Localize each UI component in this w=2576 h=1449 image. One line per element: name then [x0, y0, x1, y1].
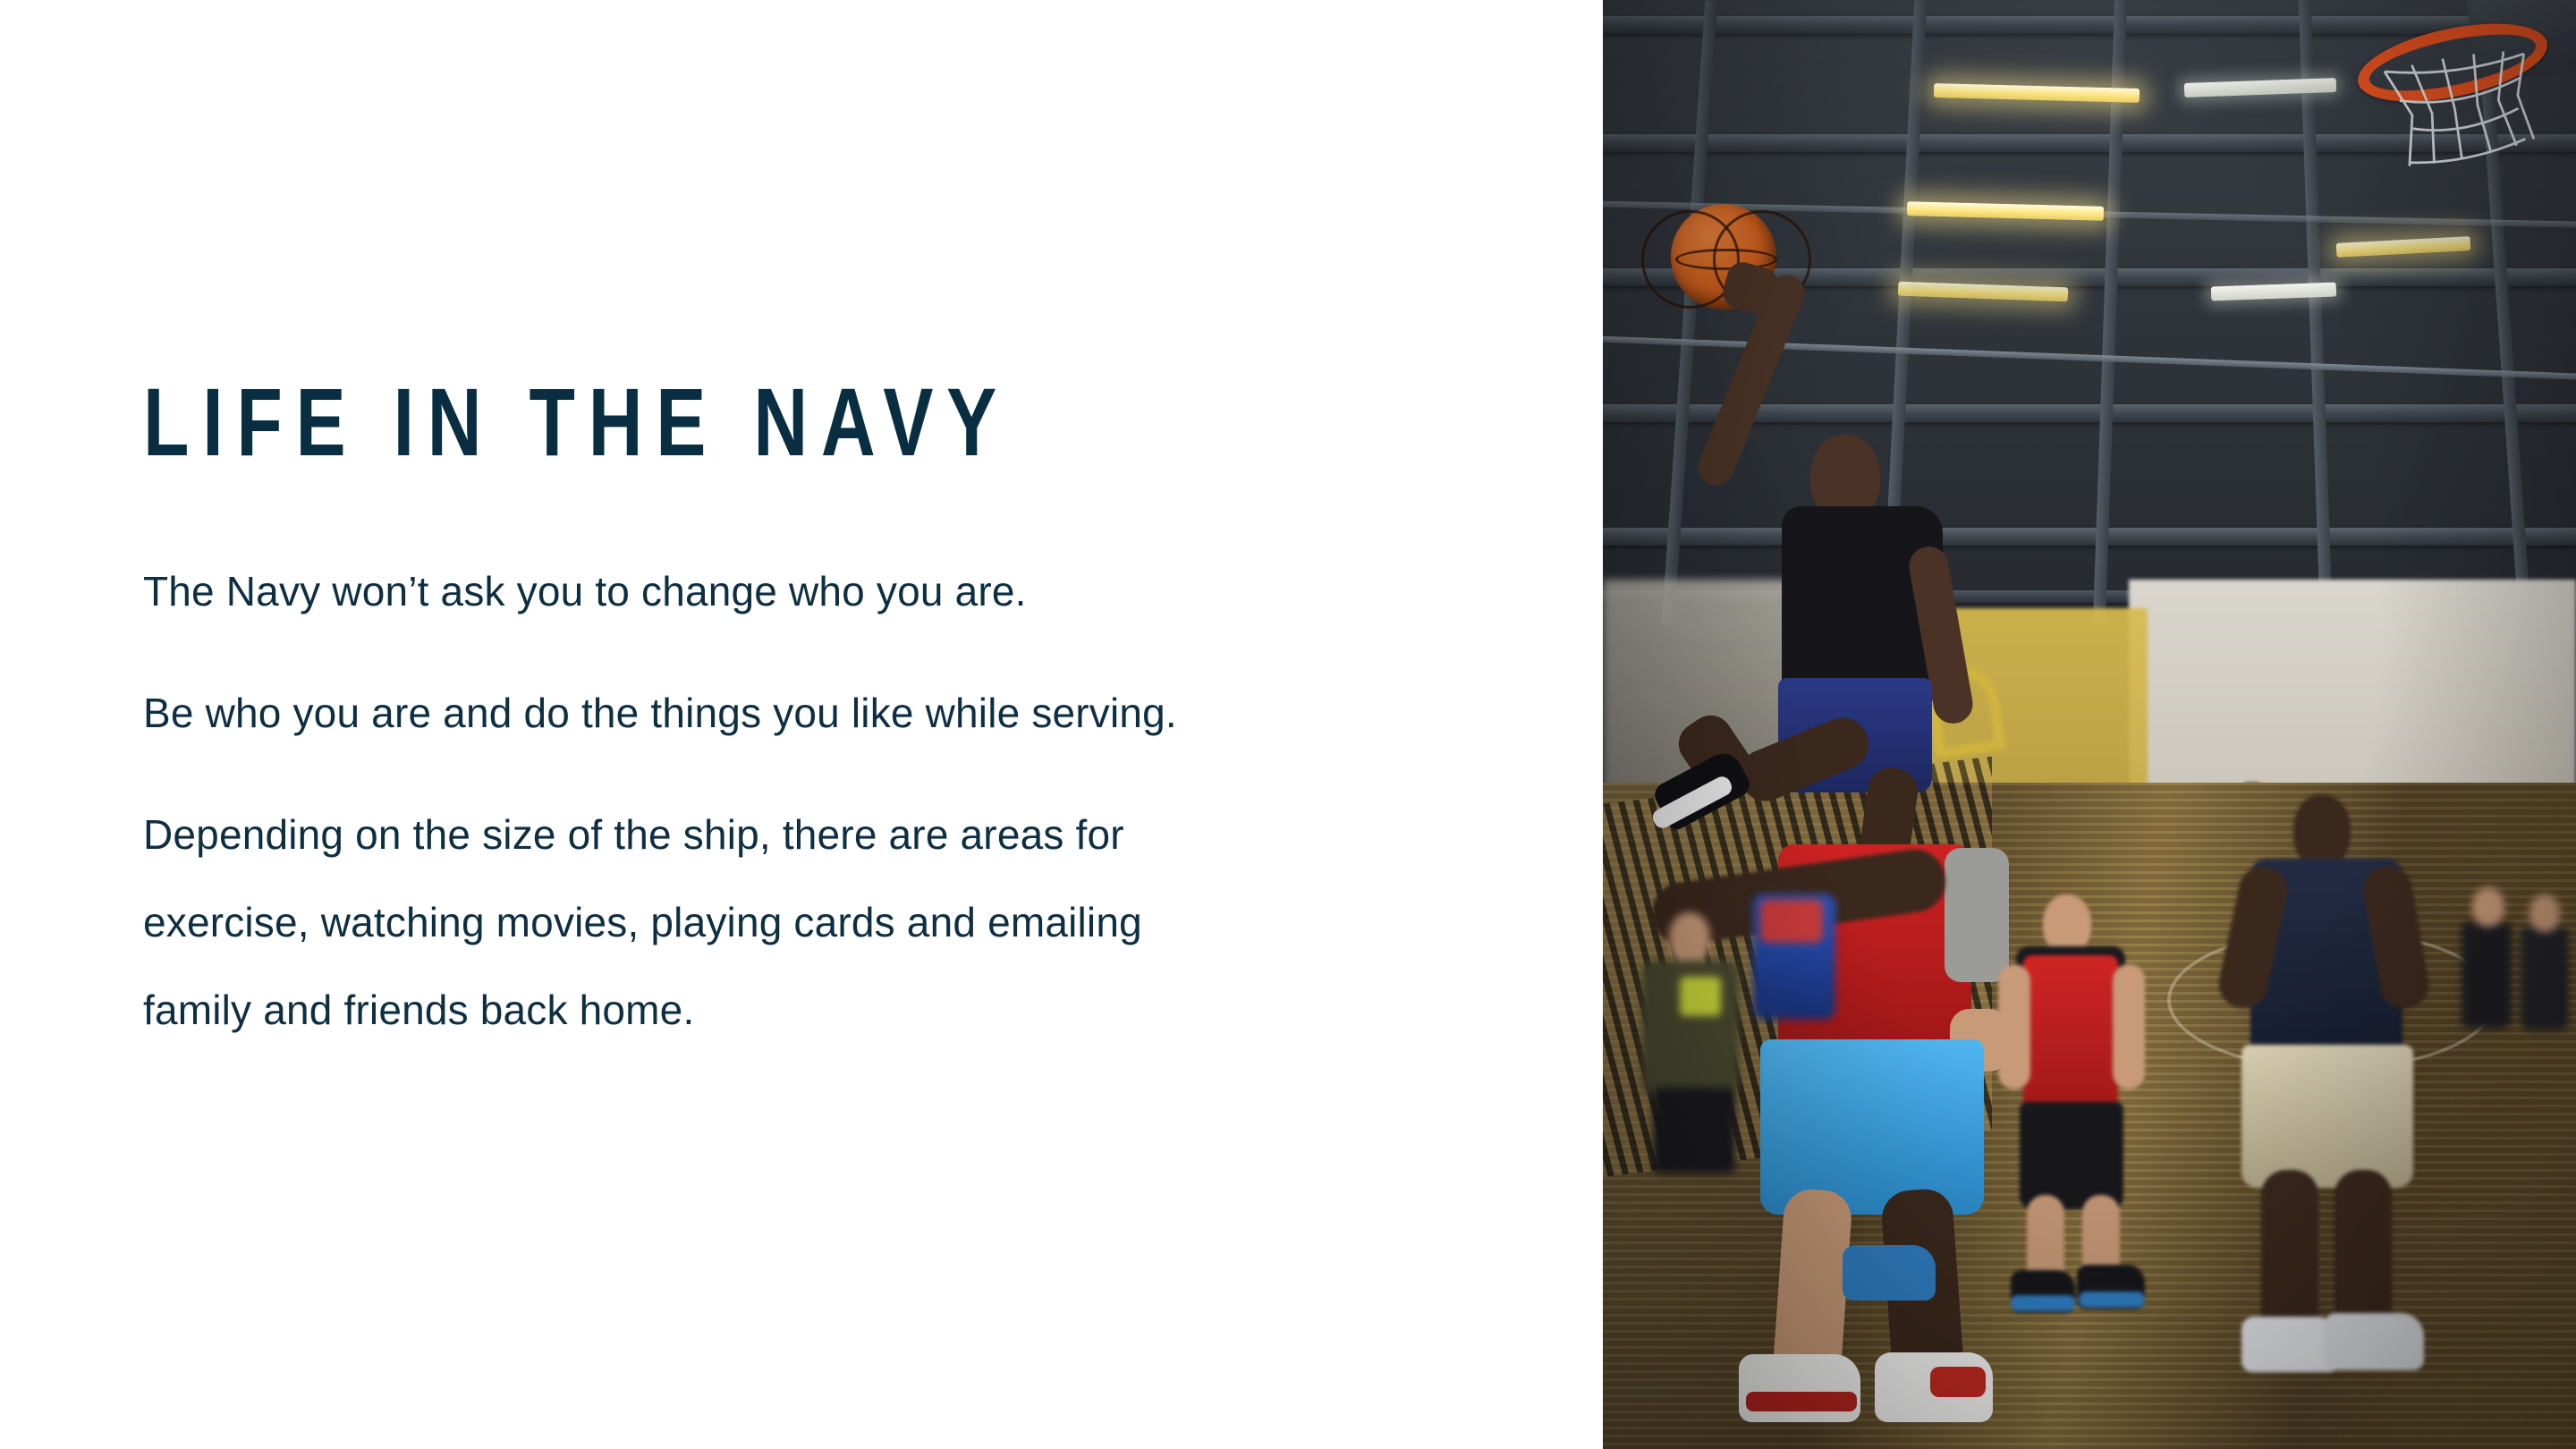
- page-title: LIFE IN THE NAVY: [143, 374, 1134, 470]
- body-paragraph-1: The Navy won’t ask you to change who you…: [143, 547, 1413, 635]
- overhead-structure: [1603, 0, 2576, 638]
- text-panel: LIFE IN THE NAVY The Navy won’t ask you …: [0, 0, 1603, 1449]
- body-paragraph-2: Be who you are and do the things you lik…: [143, 669, 1413, 757]
- hero-photo: [1603, 0, 2576, 1449]
- body-paragraph-3: Depending on the size of the ship, there…: [143, 791, 1145, 1054]
- text-block: LIFE IN THE NAVY The Navy won’t ask you …: [143, 374, 1413, 1054]
- slide-root: LIFE IN THE NAVY The Navy won’t ask you …: [0, 0, 2576, 1449]
